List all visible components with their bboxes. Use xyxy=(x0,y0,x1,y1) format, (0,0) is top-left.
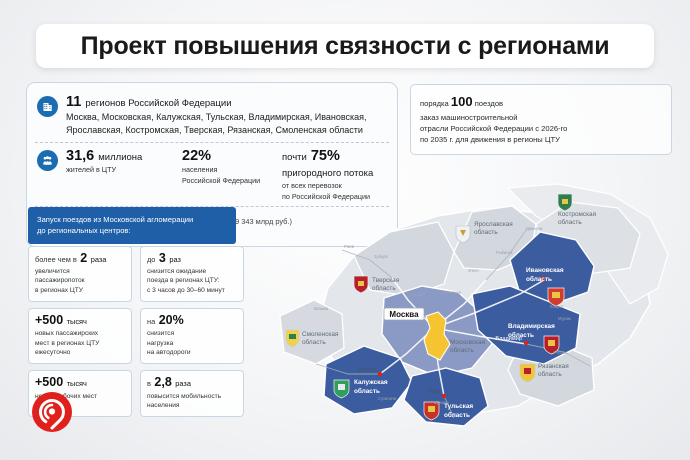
city-dot-vladimir xyxy=(524,341,528,345)
regions-detail-line1: Москва, Московская, Калужская, Тульская,… xyxy=(66,111,387,123)
town-label: Ковров xyxy=(550,304,564,309)
benefit-desc: увеличится пассажиропоток в регионах ЦТУ xyxy=(35,267,125,295)
map-svg: Москва xyxy=(258,168,690,436)
label-smolenskaya-line2: область xyxy=(302,338,326,346)
residents-desc: жителей в ЦТУ xyxy=(66,165,178,175)
share-number: 22% xyxy=(182,148,278,164)
city-dot-kaluga xyxy=(378,372,382,376)
benefit-prefix: до xyxy=(147,255,155,264)
town-label: Сухиничи xyxy=(378,396,396,401)
stat-row-regions: 11 регионов Российской Федерации Москва,… xyxy=(35,89,389,142)
benefit-card: на 20% снизится нагрузка на автодороги xyxy=(140,308,244,364)
label-ryazanskaya-line2: область xyxy=(538,370,562,378)
town-label: Зубцов xyxy=(374,254,388,259)
city-label-tula: Тула xyxy=(428,389,441,395)
page-title: Проект повышения связности с регионами xyxy=(81,32,610,61)
benefit-headline: +500 тысяч xyxy=(35,314,125,327)
benefit-headline: +500 тысяч xyxy=(35,376,125,389)
benefit-card: в 2,8 раза повысится мобильность населен… xyxy=(140,370,244,417)
trains-line2: заказ машиностроительной xyxy=(420,112,662,123)
benefit-desc: новых пассажирских мест в регионах ЦТУ е… xyxy=(35,329,125,357)
region-tverskaya[interactable] xyxy=(354,222,454,296)
trains-line3: отрасли Российской Федерации с 2026-го xyxy=(420,123,662,134)
label-tverskaya-line2: область xyxy=(372,284,396,292)
label-yaroslavskaya-line2: область xyxy=(474,228,498,236)
trains-line4: по 2035 г. для движения в регионы ЦТУ xyxy=(420,134,662,145)
label-kaluzhskaya-line1: Калужская xyxy=(354,379,388,386)
launch-header: Запуск поездов из Московской агломерации… xyxy=(28,207,236,244)
town-label: Ржев xyxy=(344,244,354,249)
stat-body-regions: 11 регионов Российской Федерации Москва,… xyxy=(66,94,387,137)
label-smolenskaya-line1: Смоленская xyxy=(302,331,339,338)
benefit-prefix: более чем в xyxy=(35,255,77,264)
benefit-desc: снизится ожидание поезда в регионах ЦТУ:… xyxy=(147,267,237,295)
benefit-suffix: тысяч xyxy=(67,379,87,388)
benefit-number: 2,8 xyxy=(154,375,171,389)
flow-number: 75% xyxy=(311,148,340,164)
label-ivanovskaya-line2: область xyxy=(526,275,552,283)
benefit-number: 3 xyxy=(159,251,166,265)
building-icon xyxy=(37,96,58,117)
label-vladimirskaya-line1: Владимирская xyxy=(508,323,555,330)
city-dot-tula xyxy=(442,394,446,398)
label-ryazanskaya-line1: Рязанская xyxy=(538,363,569,370)
benefit-number: +500 xyxy=(35,313,63,327)
launch-header-line1: Запуск поездов из Московской агломерации xyxy=(37,214,227,225)
benefit-prefix: на xyxy=(147,317,155,326)
town-label: Рыбинск xyxy=(496,250,513,255)
benefit-suffix: раза xyxy=(175,379,191,388)
benefit-prefix: в xyxy=(147,379,151,388)
residents-number: 31,6 xyxy=(66,148,94,164)
regions-number: 11 xyxy=(66,94,81,110)
label-ivanovskaya-line1: Ивановская xyxy=(526,267,564,274)
town-label: Вязьма xyxy=(314,306,329,311)
town-label: Углич xyxy=(468,268,479,273)
regions-detail-line2: Ярославская, Костромская, Тверская, Ряза… xyxy=(66,124,387,136)
benefit-desc: повысится мобильность населения xyxy=(147,392,237,411)
benefit-number: 20% xyxy=(159,313,184,327)
launch-header-line2: до региональных центров: xyxy=(37,225,227,236)
trains-prefix: порядка xyxy=(420,99,449,108)
moscow-label: Москва xyxy=(389,310,419,319)
town-label: Муром xyxy=(558,316,571,321)
label-kaluzhskaya-line2: область xyxy=(354,387,380,395)
benefit-card: до 3 раз снизится ожидание поезда в реги… xyxy=(140,246,244,302)
trains-order-box: порядка 100 поездов заказ машиностроител… xyxy=(410,84,672,155)
regions-headline: 11 регионов Российской Федерации xyxy=(66,94,387,110)
label-kostromskaya-line1: Костромская xyxy=(558,211,597,218)
benefit-card: более чем в 2 раза увеличится пассажироп… xyxy=(28,246,132,302)
label-yaroslavskaya-line1: Ярославская xyxy=(474,221,513,228)
organization-logo xyxy=(30,390,74,434)
label-tverskaya-line1: Тверская xyxy=(372,277,400,284)
people-icon xyxy=(37,150,58,171)
benefit-headline: на 20% xyxy=(147,314,237,327)
benefit-suffix: тысяч xyxy=(67,317,87,326)
label-tulskaya-line2: область xyxy=(444,411,470,419)
residents-headline: 31,6 миллиона xyxy=(66,148,178,164)
trains-headline: порядка 100 поездов xyxy=(420,92,662,112)
benefit-headline: в 2,8 раза xyxy=(147,376,237,389)
label-moskovskaya-line1: Московская xyxy=(450,339,486,346)
town-label: Можайск xyxy=(408,292,425,297)
benefit-headline: более чем в 2 раза xyxy=(35,252,125,265)
label-moskovskaya-line2: область xyxy=(450,346,474,354)
town-label: Данилов xyxy=(526,226,542,231)
benefit-desc: снизится нагрузка на автодороги xyxy=(147,329,237,357)
benefit-number: 2 xyxy=(80,251,87,265)
town-label: Рязань xyxy=(554,350,567,355)
benefit-number: +500 xyxy=(35,375,63,389)
population-col-residents: 31,6 миллиона жителей в ЦТУ xyxy=(66,148,178,201)
title-bar: Проект повышения связности с регионами xyxy=(36,24,654,68)
benefit-headline: до 3 раз xyxy=(147,252,237,265)
regions-unit: регионов Российской Федерации xyxy=(85,98,231,109)
city-label-vladimir: Владимир xyxy=(495,336,522,342)
residents-unit: миллиона xyxy=(98,152,142,163)
label-kostromskaya-line2: область xyxy=(558,218,582,226)
trains-number: 100 xyxy=(451,94,473,109)
benefit-card: +500 тысяч новых пассажирских мест в рег… xyxy=(28,308,132,364)
town-label: Шаховская xyxy=(440,290,461,295)
flow-prefix: почти xyxy=(282,152,307,163)
city-label-kaluga: Калуга xyxy=(359,367,377,373)
town-label: Щёкино xyxy=(434,400,449,405)
infographic-root: Проект повышения связности с регионами xyxy=(0,0,690,460)
trains-unit: поездов xyxy=(475,99,503,108)
benefit-suffix: раз xyxy=(169,255,181,264)
coat-of-arms-kaluzhskaya xyxy=(334,380,349,398)
benefit-suffix: раза xyxy=(91,255,107,264)
regions-map: Москва xyxy=(258,168,690,436)
